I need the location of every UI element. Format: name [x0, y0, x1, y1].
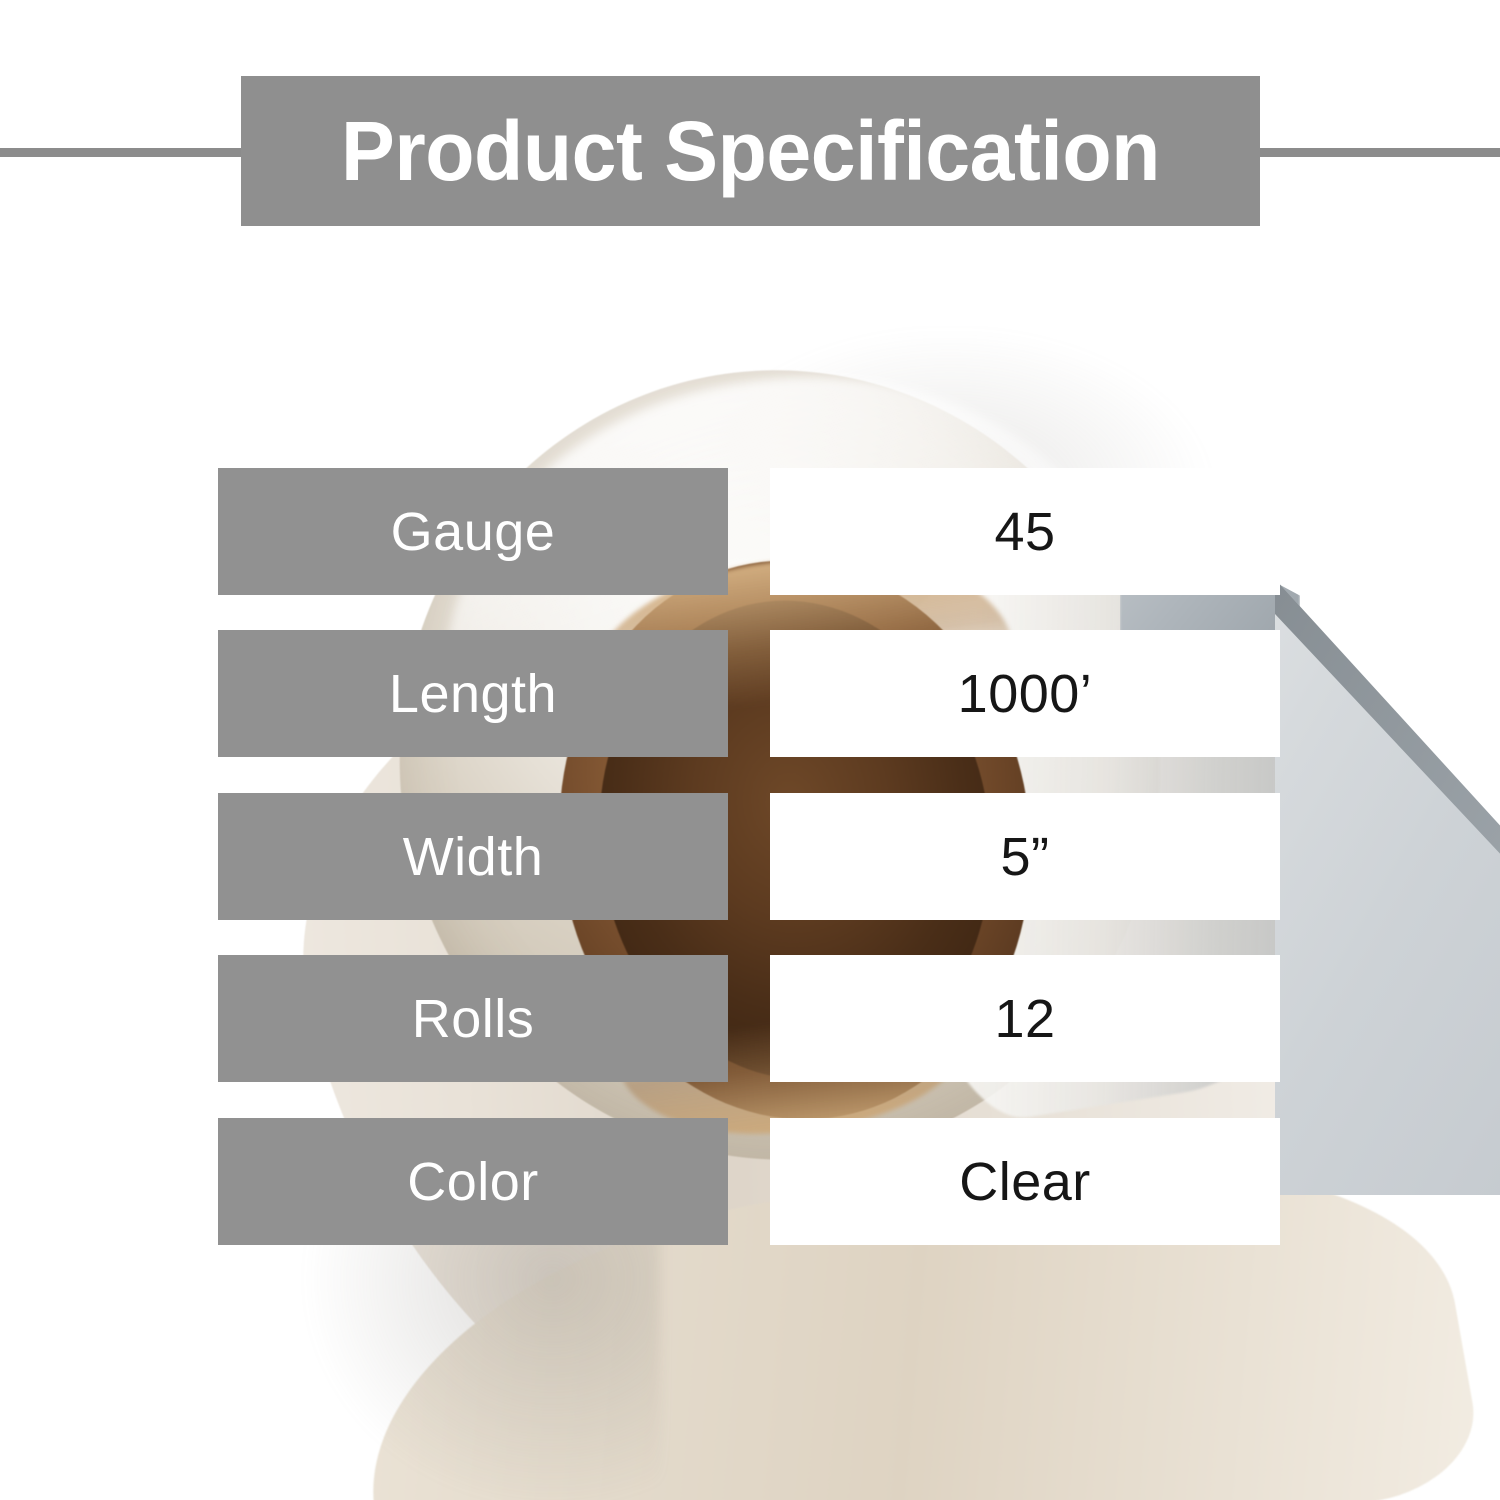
spec-value-cell: 1000’: [770, 630, 1280, 757]
table-row: Width 5”: [0, 793, 1500, 920]
spec-value-text: 5”: [1000, 830, 1049, 884]
spec-value-cell: 45: [770, 468, 1280, 595]
table-row: Rolls 12: [0, 955, 1500, 1082]
spec-value-text: Clear: [959, 1155, 1091, 1209]
spec-label-text: Gauge: [391, 505, 556, 559]
specification-table: Gauge 45 Length 1000’ Width 5” Roll: [0, 0, 1500, 1500]
spec-label-text: Color: [407, 1155, 539, 1209]
spec-value-cell: Clear: [770, 1118, 1280, 1245]
spec-label-cell: Rolls: [218, 955, 728, 1082]
spec-label-cell: Gauge: [218, 468, 728, 595]
table-row: Color Clear: [0, 1118, 1500, 1245]
table-row: Gauge 45: [0, 468, 1500, 595]
spec-value-cell: 5”: [770, 793, 1280, 920]
spec-value-text: 12: [994, 992, 1055, 1046]
spec-label-text: Width: [403, 830, 544, 884]
spec-label-cell: Width: [218, 793, 728, 920]
spec-value-text: 1000’: [958, 667, 1093, 721]
spec-value-text: 45: [994, 505, 1055, 559]
spec-label-cell: Color: [218, 1118, 728, 1245]
spec-value-cell: 12: [770, 955, 1280, 1082]
product-specification-graphic: Product Specification Gauge 45 Length 10…: [0, 0, 1500, 1500]
spec-label-text: Rolls: [412, 992, 535, 1046]
spec-label-cell: Length: [218, 630, 728, 757]
spec-label-text: Length: [389, 667, 557, 721]
table-row: Length 1000’: [0, 630, 1500, 757]
